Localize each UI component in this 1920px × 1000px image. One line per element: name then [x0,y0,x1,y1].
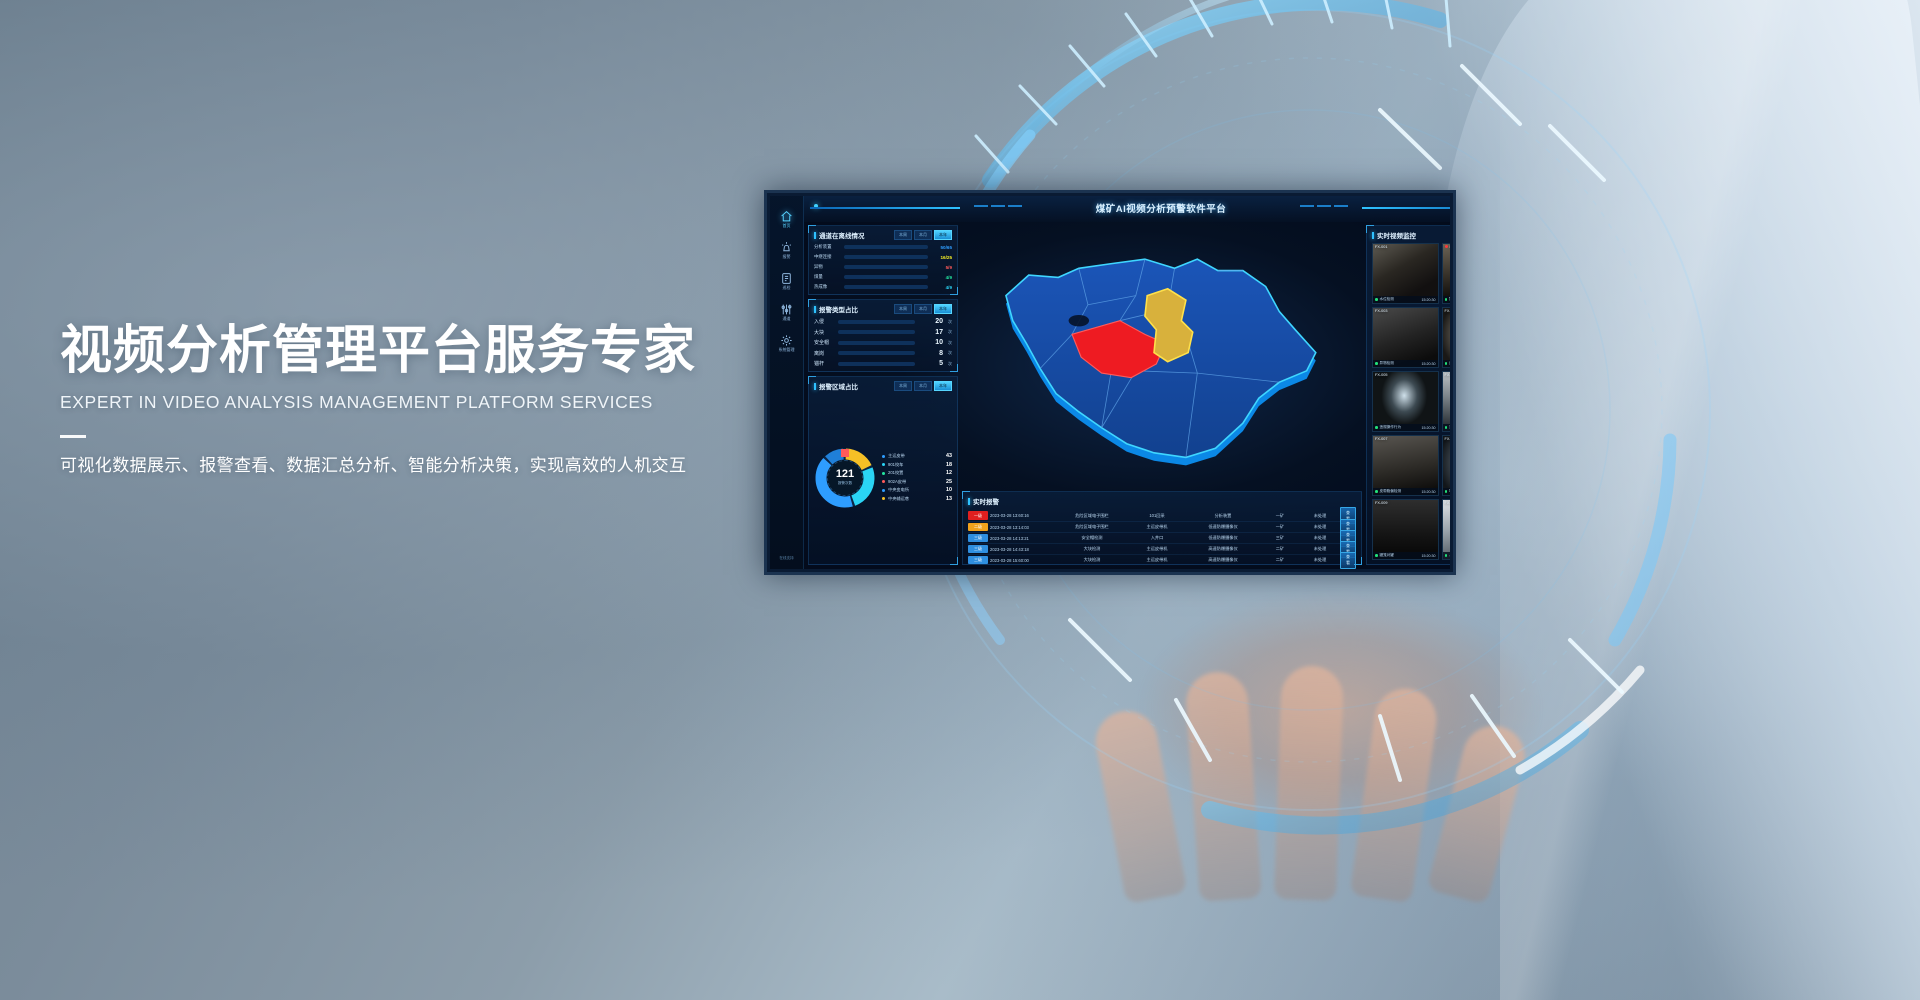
alarm-type: 危险区域电子围栏 [1056,524,1128,530]
legend-value: 10 [946,487,952,493]
video-feed [1373,500,1438,559]
video-id: FX-007 [1375,437,1387,441]
alarm-type-tab-week[interactable]: 本周 [894,304,912,314]
video-id: FX-003 [1375,309,1387,313]
alarm-time: 2023-03-28 15:60:00 [990,558,1056,563]
left-column: 通道在离线情况 本周 本月 本年 分析装置 [808,225,958,565]
video-id: FX-002 [1450,245,1451,249]
sidebar-item-system-label: 系统管理 [779,348,795,352]
legend-value: 25 [946,479,952,485]
legend-label: 201绞置 [888,470,943,476]
video-statusbar: 违规操作行为 15:20:30 [1373,424,1438,431]
inspection-icon [780,272,793,285]
alarm-area-title: 报警区域占比 [819,381,858,391]
online-dot [1445,426,1448,429]
home-icon [780,210,793,223]
alarm-time: 2023-03-28 14:43:18 [990,547,1056,552]
video-id: FX-009 [1375,501,1387,505]
alarm-area-legend: 主运皮带 43 901绞车 18 201绞置 [882,453,952,502]
hero-copy: 视频分析管理平台服务专家 EXPERT IN VIDEO ANALYSIS MA… [60,322,780,479]
alarm-type-unit: 次 [948,350,952,356]
video-label: 皮带检测 [1449,361,1450,366]
header-line-right [1362,207,1450,209]
legend-item: 201绞置 12 [882,470,952,476]
video-feed [1443,436,1451,495]
alarm-type-head: 报警类型占比 本周 本月 本年 [814,304,952,314]
alarm-type-value: 10 [919,339,943,346]
online-dot [1375,490,1378,493]
online-dot [1445,554,1448,557]
online-dot [1445,362,1448,365]
channel-value: 16/25 [932,255,952,260]
alarm-type-tab-year[interactable]: 本年 [934,304,952,314]
video-cell[interactable]: FX-003 异物检测 15:20:30 [1372,307,1439,368]
alarm-type: 危险区域电子围栏 [1056,513,1128,519]
video-cell[interactable]: FX-009 罐笼对罐 15:20:30 [1372,499,1439,560]
alarm-device: 低速防爆摄像仪 [1186,524,1260,530]
alarm-status: 未处理 [1300,546,1340,552]
video-statusbar: 堆煤检测 15:20:30 [1443,488,1451,495]
alarm-device: 分析装置 [1186,513,1260,519]
alarm-status: 未处理 [1300,535,1340,541]
online-dot [1375,362,1378,365]
table-row[interactable]: 一级 2023-03-28 13:60:16 危险区域电子围栏 101回采 分析… [968,510,1356,521]
legend-label: 902A皮带 [888,479,943,485]
video-feed [1443,308,1451,367]
status-badge: 二级 [968,523,988,531]
map-svg [962,225,1362,487]
alarm-mine: 三矿 [1260,535,1300,541]
video-id: FX-004 [1445,309,1451,313]
legend-value: 18 [946,462,952,468]
dashboard-screen: 首页 报警 巡检 通道 [770,196,1450,569]
video-cell[interactable]: FX-001 水位检测 15:20:30 [1372,243,1439,304]
legend-item: 中央辅运巷 13 [882,496,952,502]
alarm-mine: 一矿 [1260,513,1300,519]
alarm-type-value: 17 [919,329,943,336]
video-feed [1373,436,1438,495]
hero-headline: 视频分析管理平台服务专家 [60,322,780,380]
alarm-type-name: 安全帽 [814,339,834,346]
legend-value: 12 [946,470,952,476]
channel-name: 分析装置 [814,244,840,250]
sidebar-item-inspection[interactable]: 巡检 [780,272,793,290]
video-id: FX-006 [1445,373,1451,377]
video-panel-head: 实时视频监控 上一页 下一页 [1372,230,1450,240]
channel-value: 5/9 [932,265,952,270]
video-feed [1443,244,1451,303]
status-badge: 三级 [968,545,988,553]
donut-center-label: 报警次数 [838,481,852,486]
alarm-type: 安全帽检测 [1056,535,1128,541]
sidebar-footer: 在线支持 [779,556,793,561]
alarm-device: 低速防爆摄像仪 [1186,535,1260,541]
video-statusbar: 人员定位 15:20:30 [1443,552,1451,559]
alarm-mine: 二矿 [1260,557,1300,563]
alarm-level-cell: 三级 [968,556,990,564]
video-statusbar: 罐笼对罐 15:20:30 [1373,552,1438,559]
alarm-type-row: 大块 17 次 [814,329,952,336]
alarm-area-chart-wrap: 121 报警次数 主运皮带 43 [814,395,952,560]
video-id: FX-008 [1445,437,1451,441]
video-grid: FX-001 水位检测 15:20:30 FX-002 [1372,243,1450,560]
alarm-type-track [838,320,915,324]
page-title: 煤矿AI视频分析预警软件平台 [804,201,1450,215]
video-label: 堆煤检测 [1449,489,1450,494]
video-label: 人员定位 [1449,553,1450,558]
sidebar-item-alarm[interactable]: 报警 [780,241,793,259]
channel-icon [780,303,793,316]
alarm-type-list: 入侵 20 次 大块 17 次 [814,318,952,367]
alarm-type-name: 离岗 [814,350,834,357]
alarm-type-value: 20 [919,318,943,325]
legend-label: 中央变电所 [888,487,943,493]
legend-value: 43 [946,453,952,459]
alarm-level-cell: 三级 [968,545,990,553]
video-statusbar: 智能交通检测 15:20:30 [1443,296,1451,303]
channel-list: 分析装置 50/65 中继连接 16/25 异物 [814,244,952,290]
alarm-device: 高速防爆摄像仪 [1186,546,1260,552]
alarm-type-title-wrap: 报警类型占比 [814,304,858,314]
online-dot [1445,490,1448,493]
channel-value: 4/9 [932,275,952,280]
video-cell[interactable]: FX-002 智能交通检测 15:20:30 [1442,243,1451,304]
right-column: 实时视频监控 上一页 下一页 FX-001 [1366,225,1450,565]
alarm-type: 大块检测 [1056,546,1128,552]
video-time: 15:20:30 [1422,554,1436,558]
video-label: 智能交通检测 [1449,297,1450,302]
channel-name: 煤量 [814,274,840,280]
status-badge: 三级 [968,556,988,564]
legend-item: 主运皮带 43 [882,453,952,459]
online-dot [1375,298,1378,301]
video-id: FX-010 [1445,501,1451,505]
video-panel-title: 实时视频监控 [1377,230,1416,240]
hero-divider [60,435,86,438]
video-statusbar: 水位检测 15:20:30 [1373,296,1438,303]
alarm-type-track [838,330,915,334]
alarm-type-panel: 报警类型占比 本周 本月 本年 入侵 [808,299,958,372]
channel-row: 异物 5/9 [814,264,952,270]
alarm-time: 2023-03-28 14:13:21 [990,536,1056,541]
alarm-area-head: 报警区域占比 本周 本月 本年 [814,381,952,391]
sidebar-item-inspection-label: 巡检 [783,286,791,290]
alarm-type-track [838,351,915,355]
legend-label: 主运皮带 [888,453,943,459]
legend-swatch [882,463,885,466]
table-row[interactable]: 三级 2023-03-28 14:43:18 大块检测 主运皮带机 高速防爆摄像… [968,543,1356,554]
video-label: 异物检测 [1380,361,1394,366]
alarm-type-row: 安全帽 10 次 [814,339,952,346]
video-time: 15:20:30 [1422,426,1436,430]
channel-panel-tabs: 本周 本月 本年 [894,230,952,240]
dashboard-main: 煤矿AI视频分析预警软件平台 通道在离线情况 [804,196,1450,569]
alarm-status: 未处理 [1300,524,1340,530]
video-label: 水位检测 [1380,297,1394,302]
alarm-type-tabs: 本周 本月 本年 [894,304,952,314]
status-badge: 三级 [968,534,988,542]
channel-row: 热成像 4/9 [814,284,952,290]
alarm-type-name: 大块 [814,329,834,336]
channel-row: 分析装置 50/65 [814,244,952,250]
alarm-table-head: 实时报警 [968,496,1356,506]
title-accent-bar [814,383,816,390]
alarm-type: 大块检测 [1056,557,1128,563]
title-accent-bar [814,306,816,313]
video-label: 违规操作行为 [1380,425,1402,430]
legend-swatch [882,480,885,483]
alarm-area-tab-year[interactable]: 本年 [934,381,952,391]
table-row[interactable]: 二级 2023-03-28 13:14:03 危险区域电子围栏 主运皮带机 低速… [968,521,1356,532]
legend-item: 902A皮带 25 [882,479,952,485]
alarm-mine: 一矿 [1260,524,1300,530]
legend-value: 13 [946,496,952,502]
alarm-type-unit: 次 [948,329,952,335]
alarm-type-name: 锚杆 [814,360,834,367]
alarm-status: 未处理 [1300,513,1340,519]
video-cell[interactable]: FX-008 堆煤检测 15:20:30 [1442,435,1451,496]
video-panel-title-wrap: 实时视频监控 [1372,230,1416,240]
alarm-area-tab-week[interactable]: 本周 [894,381,912,391]
sidebar-item-alarm-label: 报警 [783,255,791,259]
channel-track [844,265,928,270]
alarm-status: 未处理 [1300,557,1340,563]
video-id: FX-001 [1375,245,1387,249]
alarm-type-tab-month[interactable]: 本月 [914,304,932,314]
alarm-type-unit: 次 [948,361,952,367]
title-accent-bar [814,232,816,239]
record-indicator [1445,245,1448,248]
alarm-area-tabs: 本周 本月 本年 [894,381,952,391]
sidebar-item-channel[interactable]: 通道 [780,303,793,321]
alarm-area-tab-month[interactable]: 本月 [914,381,932,391]
video-feed [1373,372,1438,431]
online-dot [1445,298,1448,301]
table-row[interactable]: 三级 2023-03-28 15:60:00 大块检测 主运皮带机 高速防爆摄像… [968,554,1356,565]
legend-label: 901绞车 [888,462,943,468]
video-id: FX-005 [1375,373,1387,377]
header-bars-right [1300,205,1348,207]
channel-track [844,245,928,250]
alarm-icon [780,241,793,254]
alarm-type-title: 报警类型占比 [819,304,858,314]
channel-name: 异物 [814,264,840,270]
video-label: 罐笼对罐 [1380,553,1394,558]
legend-swatch [882,455,885,458]
alarm-level-cell: 二级 [968,523,990,531]
channel-tab-2[interactable]: 本年 [934,230,952,240]
alarm-device: 高速防爆摄像仪 [1186,557,1260,563]
hero-subheadline: EXPERT IN VIDEO ANALYSIS MANAGEMENT PLAT… [60,392,780,413]
sidebar-item-home[interactable]: 首页 [780,210,793,228]
realtime-alarm-panel: 实时报警 一级 2023-03-28 13:60:16 危险区域电子围栏 101… [962,491,1362,565]
video-statusbar: 变电所巡检 15:20:30 [1443,424,1451,431]
channel-status-panel: 通道在离线情况 本周 本月 本年 分析装置 [808,225,958,295]
fingers [1070,600,1590,900]
alarm-type-name: 入侵 [814,318,834,325]
donut-center-value: 121 [836,469,854,480]
legend-swatch [882,497,885,500]
alarm-type-row: 入侵 20 次 [814,318,952,325]
video-label: 皮带跑偏检测 [1380,489,1402,494]
alarm-time: 2023-03-28 13:14:03 [990,525,1056,530]
channel-row: 中继连接 16/25 [814,254,952,260]
alarm-mine: 二矿 [1260,546,1300,552]
dashboard-body: 通道在离线情况 本周 本月 本年 分析装置 [804,222,1450,569]
alarm-level-cell: 一级 [968,511,990,519]
legend-swatch [882,489,885,492]
channel-value: 50/65 [932,245,952,250]
alarm-type-value: 8 [919,350,943,357]
video-cell[interactable]: FX-010 人员定位 15:20:30 [1442,499,1451,560]
table-row[interactable]: 三级 2023-03-28 14:13:21 安全帽检测 入井口 低速防爆摄像仪… [968,532,1356,543]
video-cell[interactable]: FX-007 皮带跑偏检测 15:20:30 [1372,435,1439,496]
channel-track [844,285,928,290]
alarm-table-title-wrap: 实时报警 [968,496,999,506]
channel-track [844,275,928,280]
legend-item: 901绞车 18 [882,462,952,468]
video-cell[interactable]: FX-005 违规操作行为 15:20:30 [1372,371,1439,432]
alarm-area-donut: 121 报警次数 [814,447,876,509]
channel-panel-title: 通道在离线情况 [819,230,865,240]
donut-center: 121 报警次数 [827,460,863,496]
video-time: 15:20:30 [1422,362,1436,366]
sidebar-item-system[interactable]: 系统管理 [779,334,795,352]
dashboard-header: 煤矿AI视频分析预警软件平台 [804,196,1450,222]
alarm-type-track [838,362,915,366]
alarm-level-cell: 三级 [968,534,990,542]
channel-tab-1[interactable]: 本月 [914,230,932,240]
alarm-table-title: 实时报警 [973,496,999,506]
video-feed [1373,308,1438,367]
alarm-location: 主运皮带机 [1128,557,1186,563]
alarm-area-panel: 报警区域占比 本周 本月 本年 [808,376,958,565]
legend-swatch [882,472,885,475]
online-dot [1375,426,1378,429]
title-accent-bar [968,498,970,505]
video-statusbar: 异物检测 15:20:30 [1373,360,1438,367]
alarm-type-track [838,341,915,345]
alarm-type-unit: 次 [948,319,952,325]
monitor-frame: 首页 报警 巡检 通道 [764,190,1456,575]
video-monitor-panel: 实时视频监控 上一页 下一页 FX-001 [1366,225,1450,565]
channel-panel-title-wrap: 通道在离线情况 [814,230,865,240]
channel-tab-0[interactable]: 本周 [894,230,912,240]
channel-name: 中继连接 [814,254,840,260]
title-accent-bar [1372,232,1374,239]
channel-value: 4/9 [932,285,952,290]
sidebar-item-channel-label: 通道 [783,317,791,321]
video-statusbar: 皮带检测 15:20:30 [1443,360,1451,367]
video-feed [1443,500,1451,559]
channel-track [844,255,928,260]
status-badge: 一级 [968,511,988,519]
view-button[interactable]: 查看 [1340,552,1356,569]
video-label: 变电所巡检 [1449,425,1450,430]
channel-row: 煤量 4/9 [814,274,952,280]
channel-panel-head: 通道在离线情况 本周 本月 本年 [814,230,952,240]
alarm-table: 一级 2023-03-28 13:60:16 危险区域电子围栏 101回采 分析… [968,510,1356,565]
video-statusbar: 皮带跑偏检测 15:20:30 [1373,488,1438,495]
alarm-location: 入井口 [1128,535,1186,541]
alarm-type-row: 离岗 8 次 [814,350,952,357]
alarm-area-title-wrap: 报警区域占比 [814,381,858,391]
video-cell[interactable]: FX-004 皮带检测 15:20:30 [1442,307,1451,368]
video-feed [1373,244,1438,303]
center-column: 实时报警 一级 2023-03-28 13:60:16 危险区域电子围栏 101… [962,225,1362,565]
alarm-type-unit: 次 [948,340,952,346]
alarm-action-cell: 查看 [1340,552,1356,569]
video-cell[interactable]: FX-006 变电所巡检 15:20:30 [1442,371,1451,432]
alarm-time: 2023-03-28 13:60:16 [990,513,1056,518]
video-time: 15:20:30 [1422,298,1436,302]
hero-description: 可视化数据展示、报警查看、数据汇总分析、智能分析决策，实现高效的人机交互 [60,452,780,479]
alarm-location: 主运皮带机 [1128,524,1186,530]
province-map[interactable] [962,225,1362,487]
legend-label: 中央辅运巷 [888,496,943,502]
sidebar-item-home-label: 首页 [783,224,791,228]
legend-item: 中央变电所 10 [882,487,952,493]
alarm-type-value: 5 [919,360,943,367]
alarm-location: 101回采 [1128,513,1186,519]
alarm-location: 主运皮带机 [1128,546,1186,552]
alarm-type-row: 锚杆 5 次 [814,360,952,367]
video-feed [1443,372,1451,431]
gear-icon [780,334,793,347]
channel-name: 热成像 [814,284,840,290]
video-time: 15:20:30 [1422,490,1436,494]
online-dot [1375,554,1378,557]
